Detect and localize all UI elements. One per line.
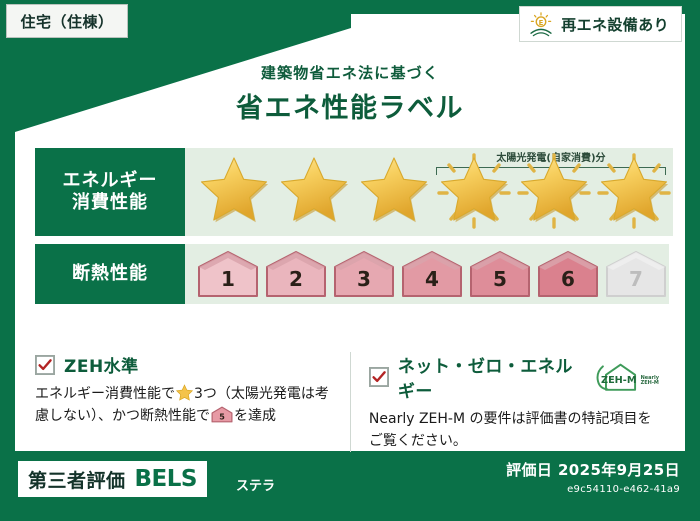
star-6 [595, 153, 673, 231]
zeh-body-part1: エネルギー消費性能で [35, 386, 175, 402]
insulation-grade-5: 5 [467, 250, 533, 298]
star-5 [515, 153, 593, 231]
label-footer: 第三者評価 BELS ステラ 評価日 2025年9月25日 e9c54110-e… [0, 451, 700, 521]
bels-en-label: BELS [135, 466, 197, 492]
renewable-badge-label: 再エネ設備あり [561, 14, 669, 35]
performance-rows: エネルギー 消費性能 太陽光発電(自家消費)分 [35, 148, 667, 312]
building-type-label: 住宅（住棟） [20, 11, 113, 32]
evaluation-date-value: 2025年9月25日 [558, 461, 680, 479]
insulation-grade-number: 2 [263, 267, 329, 291]
zeh-criteria-header: ZEH水準 [35, 352, 334, 377]
insulation-row-body: 1 2 3 4 5 6 [185, 244, 669, 304]
label-subtitle: 建築物省エネ法に基づく [0, 62, 700, 83]
star-icon [176, 384, 193, 401]
insulation-grade-number: 7 [603, 267, 669, 291]
checkbox-checked-icon [369, 367, 389, 387]
insulation-grade-number: 1 [195, 267, 261, 291]
star-4 [435, 153, 513, 231]
zeh-body-part3: を達成 [234, 408, 276, 424]
zeh-m-logo: ZEH-M Nearly ZEH-M [594, 362, 659, 392]
insulation-grade-2: 2 [263, 250, 329, 298]
renewable-equipment-badge: E 再エネ設備あり [519, 6, 682, 42]
checkbox-checked-icon [35, 355, 55, 375]
nze-criteria-body: Nearly ZEH-M の要件は評価書の特記項目をご覧ください。 [369, 409, 659, 452]
bels-brand-name: ステラ [236, 475, 275, 494]
zeh-criteria-title: ZEH水準 [64, 352, 139, 377]
insulation-grade-inline-icon: 5 [211, 406, 233, 431]
energy-star-rating [185, 153, 673, 231]
bels-jp-label: 第三者評価 [28, 466, 126, 493]
insulation-grade-4: 4 [399, 250, 465, 298]
insulation-performance-row: 断熱性能 1 2 3 4 [35, 244, 667, 304]
label-main-title: 省エネ性能ラベル [0, 86, 700, 125]
evaluation-info: 評価日 2025年9月25日 e9c54110-e462-41a9 [506, 459, 680, 495]
zeh-m-house-icon: ZEH-M [594, 362, 640, 392]
insulation-grade-3: 3 [331, 250, 397, 298]
evaluation-date: 評価日 2025年9月25日 [506, 459, 680, 480]
insulation-label-line1: 断熱性能 [72, 263, 148, 286]
zeh-m-logo-sub2: ZEH-M [641, 380, 659, 386]
insulation-grade-number: 5 [467, 267, 533, 291]
energy-label-line2: 消費性能 [72, 192, 148, 215]
evaluation-id: e9c54110-e462-41a9 [506, 484, 680, 495]
energy-label-line1: エネルギー [63, 170, 158, 193]
criteria-zeh-standard: ZEH水準 エネルギー消費性能で3つ（太陽光発電は考慮しない）、かつ断熱性能で5… [35, 352, 350, 452]
zeh-criteria-body: エネルギー消費性能で3つ（太陽光発電は考慮しない）、かつ断熱性能で5を達成 [35, 384, 334, 430]
svg-text:5: 5 [219, 412, 225, 421]
energy-row-label: エネルギー 消費性能 [35, 148, 185, 236]
criteria-section: ZEH水準 エネルギー消費性能で3つ（太陽光発電は考慮しない）、かつ断熱性能で5… [35, 352, 675, 452]
bels-certification-box: 第三者評価 BELS [18, 461, 207, 497]
insulation-row-label: 断熱性能 [35, 244, 185, 304]
svg-text:ZEH-M: ZEH-M [601, 375, 636, 386]
star-2 [275, 153, 353, 231]
evaluation-date-label: 評価日 [506, 461, 552, 479]
energy-performance-label: 住宅（住棟） E 再エネ設備あり 建築物省エネ法に基づく 省エネ性能ラベル [0, 0, 700, 521]
label-title-block: 建築物省エネ法に基づく 省エネ性能ラベル [0, 62, 700, 125]
insulation-grade-6: 6 [535, 250, 601, 298]
energy-row-body: 太陽光発電(自家消費)分 [185, 148, 673, 236]
insulation-grade-number: 6 [535, 267, 601, 291]
svg-text:E: E [539, 19, 544, 27]
nze-criteria-header: ネット・ゼロ・エネルギー ZEH-M Nearly ZEH-M [369, 352, 659, 402]
nze-criteria-title: ネット・ゼロ・エネルギー [398, 352, 579, 402]
insulation-grade-1: 1 [195, 250, 261, 298]
insulation-grade-number: 4 [399, 267, 465, 291]
criteria-net-zero-energy: ネット・ゼロ・エネルギー ZEH-M Nearly ZEH-M Nearly Z… [350, 352, 675, 452]
energy-performance-row: エネルギー 消費性能 太陽光発電(自家消費)分 [35, 148, 667, 236]
sun-renewable-icon: E [528, 11, 554, 37]
star-1 [195, 153, 273, 231]
building-type-tag: 住宅（住棟） [6, 4, 128, 38]
insulation-grade-scale: 1 2 3 4 5 6 [185, 250, 669, 298]
insulation-grade-7: 7 [603, 250, 669, 298]
star-3 [355, 153, 433, 231]
insulation-grade-number: 3 [331, 267, 397, 291]
